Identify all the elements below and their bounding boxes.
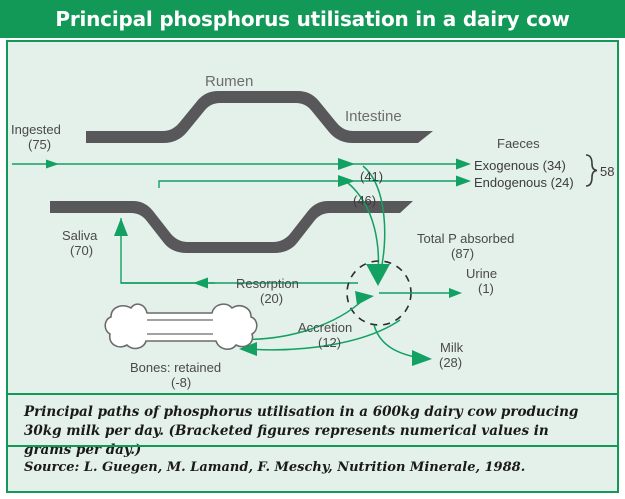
- arrowhead-absorbed: [366, 264, 390, 286]
- label-faeces-total: 58: [600, 164, 614, 179]
- header-band: Principal phosphorus utilisation in a da…: [0, 0, 625, 38]
- arrowhead-ingested: [46, 160, 59, 169]
- arrowhead-endogenous-mid: [338, 175, 355, 187]
- value-accretion: (12): [318, 335, 341, 350]
- label-flow-46: (46): [353, 193, 376, 208]
- caption-section: Principal paths of phosphorus utilisatio…: [8, 393, 617, 445]
- source-section: Source: L. Guegen, M. Lamand, F. Meschy,…: [8, 445, 617, 491]
- organ-label-rumen: Rumen: [205, 73, 253, 90]
- label-flow-41: (41): [360, 169, 383, 184]
- infographic-page: Principal phosphorus utilisation in a da…: [0, 0, 625, 499]
- label-exogenous: Exogenous (34): [474, 158, 566, 173]
- arrowhead-resorption: [355, 291, 374, 305]
- page-title: Principal phosphorus utilisation in a da…: [0, 0, 625, 38]
- label-endogenous: Endogenous (24): [474, 175, 574, 190]
- value-resorption: (20): [260, 291, 283, 306]
- flow-diagram: Rumen Intestine Ingested (75) Faeces Exo…: [8, 42, 617, 391]
- value-saliva: (70): [70, 243, 93, 258]
- arrowhead-milk: [412, 350, 432, 366]
- label-milk: Milk: [440, 340, 464, 355]
- flow-endogenous-line: [159, 181, 463, 188]
- value-urine: (1): [478, 281, 494, 296]
- value-ingested: (75): [28, 137, 51, 152]
- label-urine: Urine: [466, 266, 497, 281]
- bone-icon: [105, 304, 257, 349]
- label-saliva: Saliva: [62, 228, 98, 243]
- arrowhead-urine: [449, 288, 462, 298]
- arrowhead-endogenous: [456, 176, 471, 187]
- value-total-p-absorbed: (87): [451, 246, 474, 261]
- value-bones: (-8): [171, 375, 191, 390]
- label-resorption: Resorption: [236, 276, 299, 291]
- label-total-p-absorbed: Total P absorbed: [417, 231, 514, 246]
- label-ingested: Ingested: [11, 122, 61, 137]
- value-milk: (28): [439, 355, 462, 370]
- label-faeces: Faeces: [497, 136, 540, 151]
- label-bones: Bones: retained: [130, 360, 221, 375]
- organ-label-intestine: Intestine: [345, 108, 402, 125]
- faeces-brace: [586, 155, 597, 186]
- source-text: Source: L. Guegen, M. Lamand, F. Meschy,…: [24, 459, 600, 477]
- label-accretion: Accretion: [298, 320, 352, 335]
- arrowhead-exogenous: [456, 159, 471, 170]
- arrowhead-saliva: [114, 218, 128, 236]
- arrowhead-exogenous-mid: [338, 158, 355, 170]
- lower-tract-shape: [50, 201, 413, 253]
